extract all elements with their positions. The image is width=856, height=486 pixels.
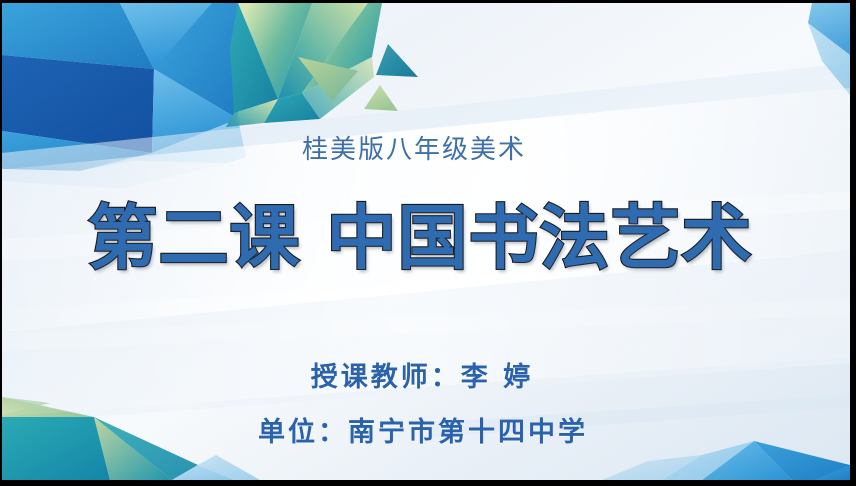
letterbox-bottom <box>0 480 856 486</box>
slide-canvas: 桂美版八年级美术 第二课中国书法艺术 授课教师：李 婷 单位：南宁市第十四中学 <box>2 3 850 480</box>
letterbox-right <box>850 0 856 486</box>
title-subject: 中国书法艺术 <box>327 197 753 279</box>
letterbox-left <box>0 0 2 486</box>
course-edition-label: 桂美版八年级美术 <box>2 129 838 166</box>
slide-text-layer: 桂美版八年级美术 第二课中国书法艺术 授课教师：李 婷 单位：南宁市第十四中学 <box>2 3 850 480</box>
presentation-slide: 桂美版八年级美术 第二课中国书法艺术 授课教师：李 婷 单位：南宁市第十四中学 <box>0 0 856 486</box>
presenter-label: 授课教师：李 婷 <box>2 355 846 394</box>
organization-label: 单位：南宁市第十四中学 <box>2 410 847 449</box>
page-title: 第二课中国书法艺术 <box>2 196 844 280</box>
title-lesson-number: 第二课 <box>88 197 301 279</box>
letterbox-top <box>0 0 856 3</box>
